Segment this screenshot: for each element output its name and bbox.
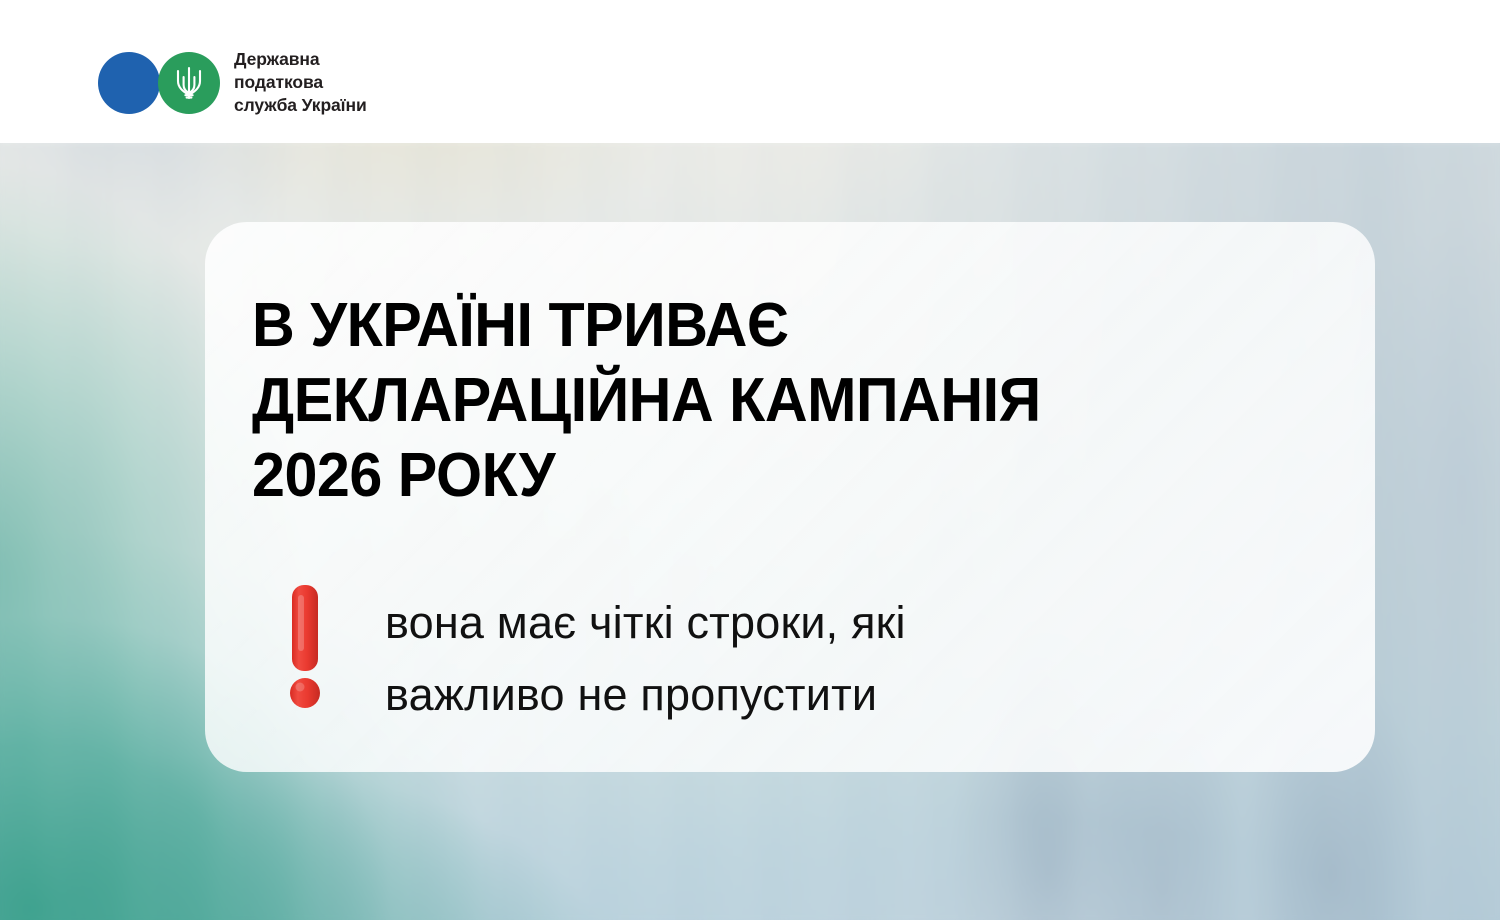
- site-header: Державна податкова служба України: [0, 0, 1500, 143]
- headline-line-2: ДЕКЛАРАЦІЙНА КАМПАНІЯ: [252, 363, 1041, 438]
- headline-line-3: 2026 РОКУ: [252, 438, 1041, 513]
- logo-text-line-1: Державна: [234, 48, 367, 71]
- page-title: В УКРАЇНІ ТРИВАЄ ДЕКЛАРАЦІЙНА КАМПАНІЯ 2…: [252, 288, 1041, 513]
- logo-mark: [98, 51, 220, 115]
- subtitle-line-2: важливо не пропустити: [385, 659, 906, 731]
- subtitle-text: вона має чіткі строки, які важливо не пр…: [385, 587, 906, 731]
- ukraine-trident-icon: [174, 64, 204, 102]
- logo-text-line-3: служба України: [234, 94, 367, 117]
- subtitle-line-1: вона має чіткі строки, які: [385, 587, 906, 659]
- exclamation-mark-icon: [285, 583, 331, 711]
- dps-logo[interactable]: Державна податкова служба України: [98, 48, 367, 117]
- banner-page: Державна податкова служба України В УКРА…: [0, 0, 1500, 920]
- headline-line-1: В УКРАЇНІ ТРИВАЄ: [252, 288, 1041, 363]
- subtitle-block: вона має чіткі строки, які важливо не пр…: [285, 583, 906, 731]
- logo-text: Державна податкова служба України: [234, 48, 367, 117]
- logo-text-line-2: податкова: [234, 71, 367, 94]
- blue-circle-icon: [98, 52, 160, 114]
- green-circle-trident-icon: [158, 52, 220, 114]
